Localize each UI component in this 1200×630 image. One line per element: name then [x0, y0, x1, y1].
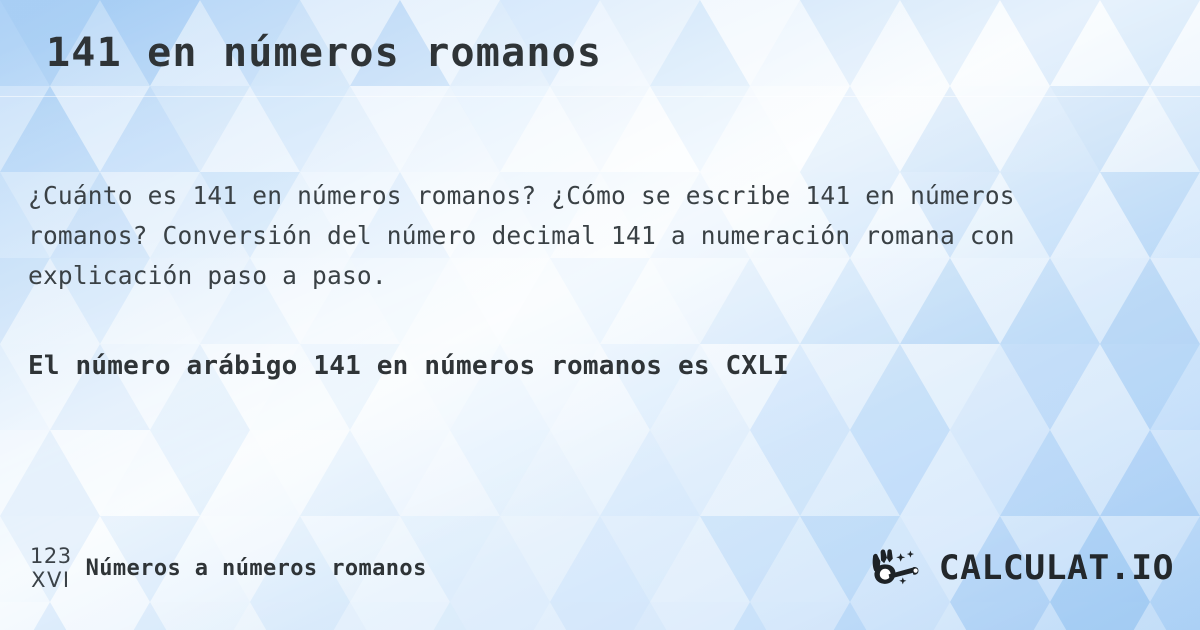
- fraction-denominator: XVI: [31, 570, 70, 591]
- card-footer: 123 XVI Números a números romanos: [0, 538, 1200, 630]
- calculatio-wordmark: CALCULAT.IO: [939, 548, 1174, 588]
- site-section-label: Números a números romanos: [86, 556, 427, 581]
- intro-paragraph: ¿Cuánto es 141 en números romanos? ¿Cómo…: [28, 176, 1148, 296]
- fraction-numerator: 123: [30, 546, 72, 567]
- page-title: 141 en números romanos: [46, 30, 602, 76]
- title-divider: [0, 96, 1200, 97]
- card-content: 141 en números romanos ¿Cuánto es 141 en…: [0, 0, 1200, 630]
- hand-magic-wand-icon: [869, 548, 931, 588]
- result-statement: El número arábigo 141 en números romanos…: [28, 344, 1148, 388]
- site-section-brand[interactable]: 123 XVI Números a números romanos: [30, 546, 427, 591]
- calculatio-brand[interactable]: CALCULAT.IO: [869, 548, 1172, 588]
- social-card: 141 en números romanos ¿Cuánto es 141 en…: [0, 0, 1200, 630]
- roman-fraction-icon: 123 XVI: [30, 546, 72, 591]
